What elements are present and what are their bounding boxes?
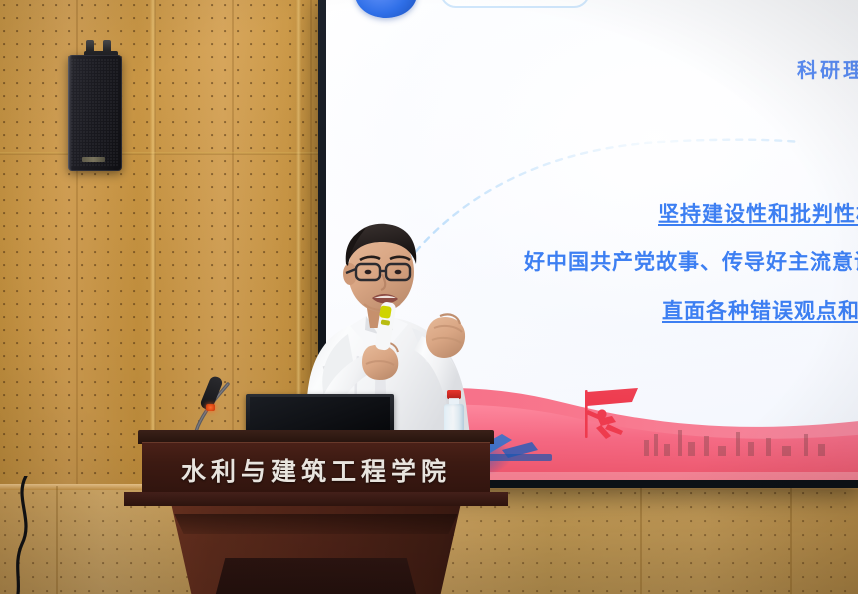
floor-cable-icon — [0, 476, 40, 594]
slide-subtitle: 科研理 — [797, 54, 858, 83]
lower-wall-seam — [56, 486, 58, 594]
slide-bullet-1: 坚持建设性和批判性相统一 — [658, 198, 858, 228]
lectern-sign-panel: 水利与建筑工程学院 — [142, 442, 490, 494]
lecture-hall-photo: 学术研究 科研理 坚持建设性和批判性相统一 好中国共产党故事、传导好主流意识形态… — [0, 0, 858, 594]
lower-wall-seam — [640, 486, 642, 594]
speaker-brand-badge — [82, 157, 105, 162]
speaker-edge-highlight — [68, 55, 72, 171]
laptop-screen — [250, 397, 390, 431]
speaker-mount-bracket — [86, 40, 116, 56]
lectern-lip — [124, 492, 508, 506]
slide-bullet-3: 直面各种错误观点和思潮 — [662, 295, 858, 325]
lectern: 水利与建筑工程学院 — [116, 430, 516, 594]
speaker-grille — [71, 59, 119, 167]
slide-title-pill — [440, 0, 590, 8]
lectern-shadow-band — [162, 514, 470, 534]
lower-wall-seam — [790, 486, 792, 594]
lectern-base — [208, 558, 424, 594]
slide-bullet-2: 好中国共产党故事、传导好主流意识形态 — [524, 246, 858, 276]
lectern-sign-text: 水利与建筑工程学院 — [142, 452, 490, 488]
microphone-indicator-led — [206, 404, 215, 411]
wall-speaker-icon — [68, 55, 122, 171]
